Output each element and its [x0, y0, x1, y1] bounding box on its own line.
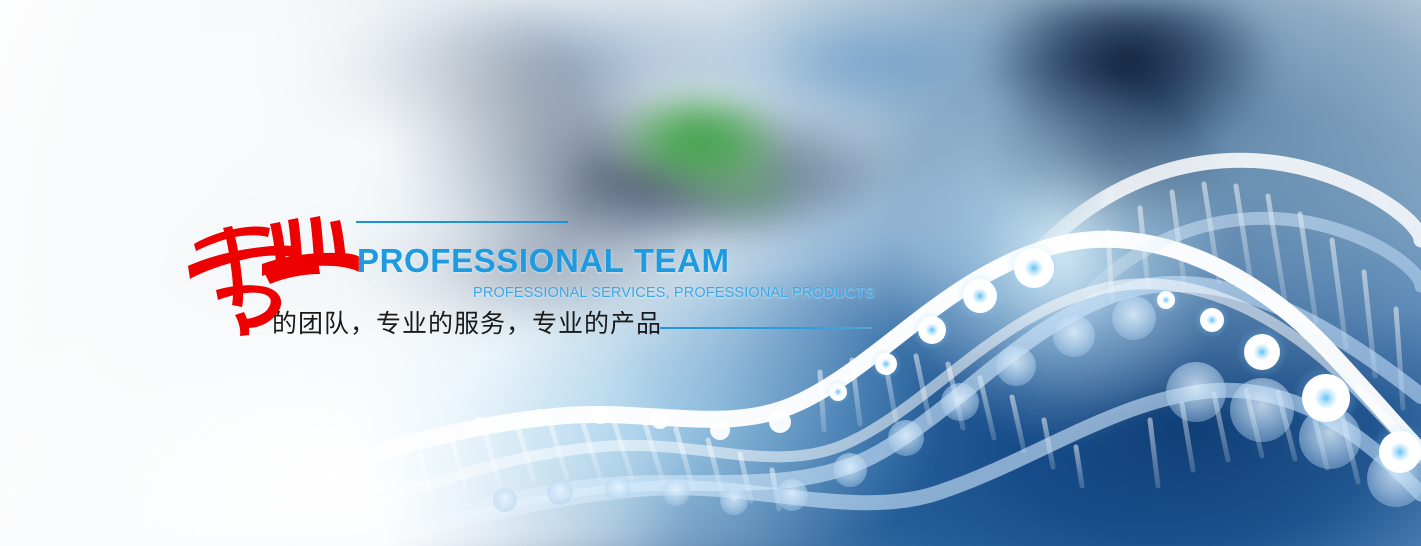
- hero-banner: PROFESSIONAL TEAM PROFESSIONAL SERVICES,…: [0, 0, 1421, 546]
- subheadline-services-products: PROFESSIONAL SERVICES, PROFESSIONAL PROD…: [473, 286, 875, 301]
- headline-professional-team: PROFESSIONAL TEAM: [357, 244, 730, 277]
- decorative-rule-top: [356, 221, 568, 223]
- decorative-rule-bottom: [660, 327, 872, 329]
- banner-copy: PROFESSIONAL TEAM PROFESSIONAL SERVICES,…: [0, 0, 1421, 546]
- tagline-chinese: 的团队，专业的服务，专业的产品: [272, 309, 662, 339]
